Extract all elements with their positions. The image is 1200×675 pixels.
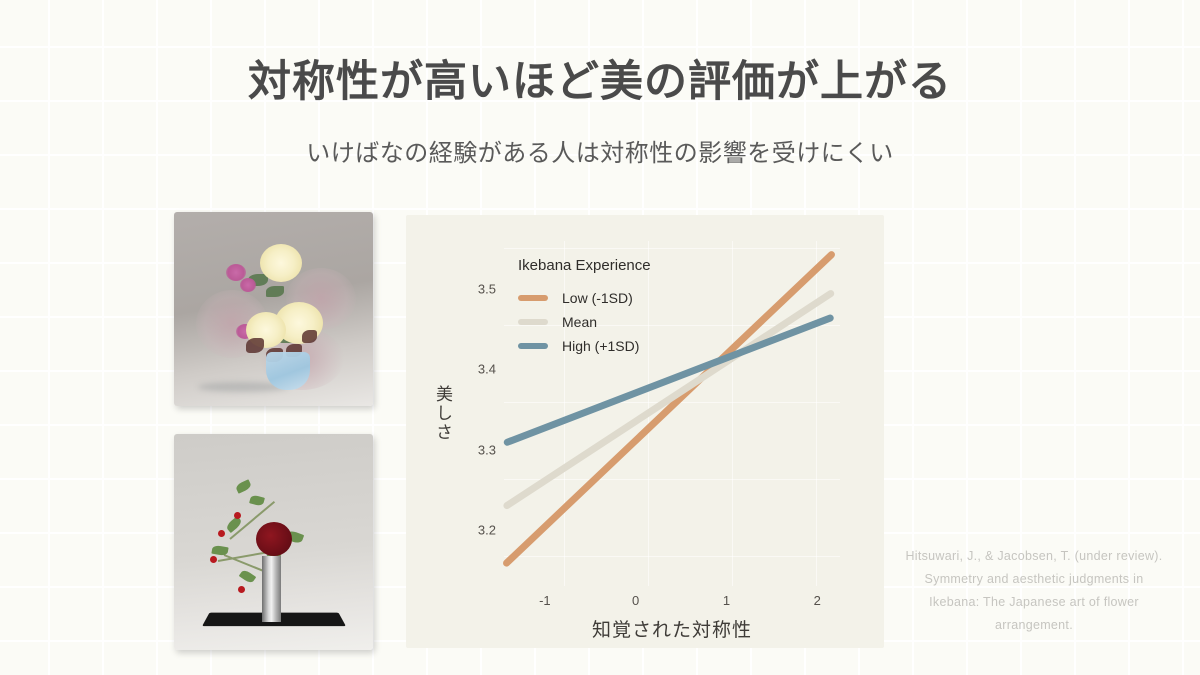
pink-flower-icon	[240, 278, 256, 292]
berry-icon	[234, 512, 241, 519]
x-tick-label: 2	[814, 593, 821, 608]
legend-item[interactable]: Mean	[518, 310, 651, 334]
photo-ikebana-black-base-artwork	[174, 434, 373, 650]
legend-item[interactable]: Low (-1SD)	[518, 286, 651, 310]
leaf-icon	[235, 479, 252, 493]
chart-card: 美しさ 3.23.33.43.5 -1012 知覚された対称性 Ikebana …	[406, 215, 884, 648]
x-axis-title: 知覚された対称性	[504, 615, 840, 642]
citation-text: Hitsuwari, J., & Jacobsen, T. (under rev…	[898, 545, 1170, 638]
legend-item-label: Mean	[562, 314, 597, 330]
slide-header: 対称性が高いほど美の評価が上がる いけばなの経験がある人は対称性の影響を受けにく…	[0, 58, 1200, 168]
legend-item-label: High (+1SD)	[562, 338, 639, 354]
x-axis-tick-labels: -1012	[504, 593, 840, 613]
page-subtitle: いけばなの経験がある人は対称性の影響を受けにくい	[0, 133, 1200, 168]
blue-vase-icon	[266, 352, 310, 390]
y-tick-label: 3.3	[478, 442, 496, 457]
red-dahlia-icon	[256, 522, 292, 556]
berry-icon	[210, 556, 217, 563]
berry-icon	[238, 586, 245, 593]
berry-icon	[218, 530, 225, 537]
chrysanthemum-icon	[260, 244, 302, 282]
photo-ikebana-black-base	[174, 434, 373, 650]
legend-swatch-icon	[518, 295, 548, 301]
y-tick-label: 3.2	[478, 522, 496, 537]
photo-ikebana-vase-artwork	[174, 212, 373, 406]
dark-leaf-icon	[302, 330, 317, 343]
legend-item-label: Low (-1SD)	[562, 290, 633, 306]
chart-legend: Ikebana Experience Low (-1SD)MeanHigh (+…	[518, 257, 651, 358]
legend-item[interactable]: High (+1SD)	[518, 334, 651, 358]
y-tick-label: 3.4	[478, 362, 496, 377]
x-tick-label: 0	[632, 593, 639, 608]
legend-title: Ikebana Experience	[518, 257, 651, 274]
x-tick-label: 1	[723, 593, 730, 608]
legend-swatch-icon	[518, 343, 548, 349]
leaf-icon	[249, 494, 265, 506]
y-tick-label: 3.5	[478, 282, 496, 297]
legend-swatch-icon	[518, 319, 548, 325]
x-tick-label: -1	[539, 593, 551, 608]
dark-leaf-icon	[246, 338, 264, 353]
y-axis-tick-labels: 3.23.33.43.5	[446, 241, 496, 586]
leaf-icon	[239, 569, 256, 585]
page-title: 対称性が高いほど美の評価が上がる	[0, 58, 1200, 107]
legend-items: Low (-1SD)MeanHigh (+1SD)	[518, 286, 651, 358]
photo-ikebana-vase	[174, 212, 373, 406]
leaf-icon	[266, 286, 284, 297]
silver-vase-icon	[262, 556, 281, 622]
